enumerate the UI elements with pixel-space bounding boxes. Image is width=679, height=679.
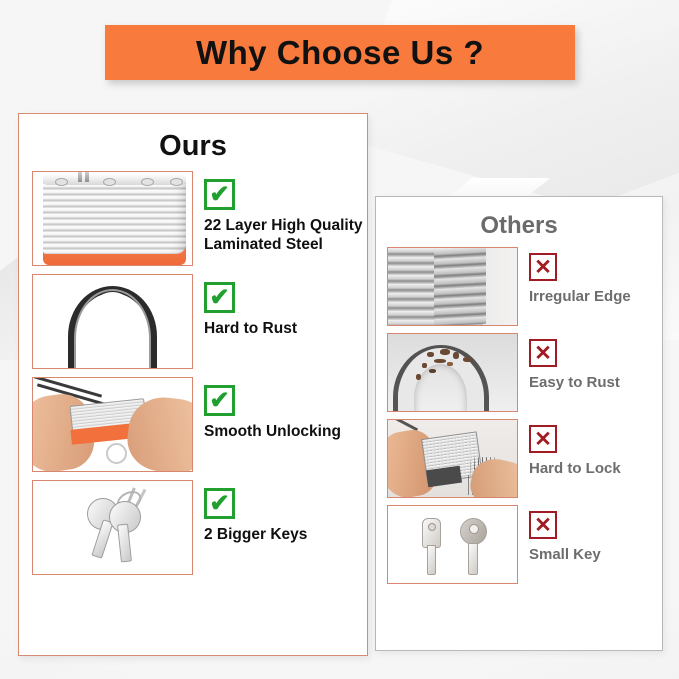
page-title: Why Choose Us ? <box>196 34 484 72</box>
two-small-keys-image <box>387 505 518 584</box>
two-large-keys-image <box>32 480 193 575</box>
list-item-caption: 2 Bigger Keys <box>204 526 307 545</box>
list-item-text: ✔ Hard to Rust <box>204 274 297 339</box>
list-item: ✔ Hard to Rust <box>32 274 367 369</box>
hand-struggling-lock-image <box>387 419 518 498</box>
chrome-shackle-image <box>32 274 193 369</box>
cross-icon: ✕ <box>529 425 557 453</box>
list-item-caption: Hard to Lock <box>529 460 621 478</box>
list-item-text: ✕ Small Key <box>529 505 601 564</box>
check-icon: ✔ <box>204 385 235 416</box>
cross-icon: ✕ <box>529 253 557 281</box>
cross-icon: ✕ <box>529 339 557 367</box>
cross-icon: ✕ <box>529 511 557 539</box>
others-panel-title: Others <box>376 212 662 240</box>
ours-panel: Ours ✔ 22 Layer High Quality Laminated S… <box>18 113 368 656</box>
list-item: ✔ 22 Layer High Quality Laminated Steel <box>32 171 367 266</box>
list-item-text: ✔ 22 Layer High Quality Laminated Steel <box>204 171 367 255</box>
rusty-shackle-image <box>387 333 518 412</box>
list-item-text: ✕ Irregular Edge <box>529 247 631 306</box>
list-item: ✔ Smooth Unlocking <box>32 377 367 472</box>
laminated-steel-stack-image <box>32 171 193 266</box>
list-item-caption: Irregular Edge <box>529 288 631 306</box>
list-item-caption: Smooth Unlocking <box>204 423 341 442</box>
list-item: ✔ 2 Bigger Keys <box>32 480 367 575</box>
ours-panel-title: Ours <box>19 130 367 163</box>
list-item-caption: Easy to Rust <box>529 374 620 392</box>
list-item: ✕ Hard to Lock <box>387 419 662 498</box>
list-item-text: ✔ 2 Bigger Keys <box>204 480 307 545</box>
irregular-laminate-edge-image <box>387 247 518 326</box>
list-item-text: ✕ Easy to Rust <box>529 333 620 392</box>
list-item-caption: 22 Layer High Quality Laminated Steel <box>204 217 367 255</box>
hands-unlocking-padlock-image <box>32 377 193 472</box>
list-item-caption: Small Key <box>529 546 601 564</box>
list-item-text: ✕ Hard to Lock <box>529 419 621 478</box>
list-item-caption: Hard to Rust <box>204 320 297 339</box>
check-icon: ✔ <box>204 488 235 519</box>
ours-item-list: ✔ 22 Layer High Quality Laminated Steel … <box>19 171 367 575</box>
check-icon: ✔ <box>204 179 235 210</box>
list-item-text: ✔ Smooth Unlocking <box>204 377 341 442</box>
others-panel: Others ✕ Irregular Edge <box>375 196 663 651</box>
list-item: ✕ Easy to Rust <box>387 333 662 412</box>
header-banner: Why Choose Us ? <box>105 25 575 80</box>
others-item-list: ✕ Irregular Edge ✕ Easy to Rust <box>376 247 662 584</box>
list-item: ✕ Irregular Edge <box>387 247 662 326</box>
check-icon: ✔ <box>204 282 235 313</box>
list-item: ✕ Small Key <box>387 505 662 584</box>
